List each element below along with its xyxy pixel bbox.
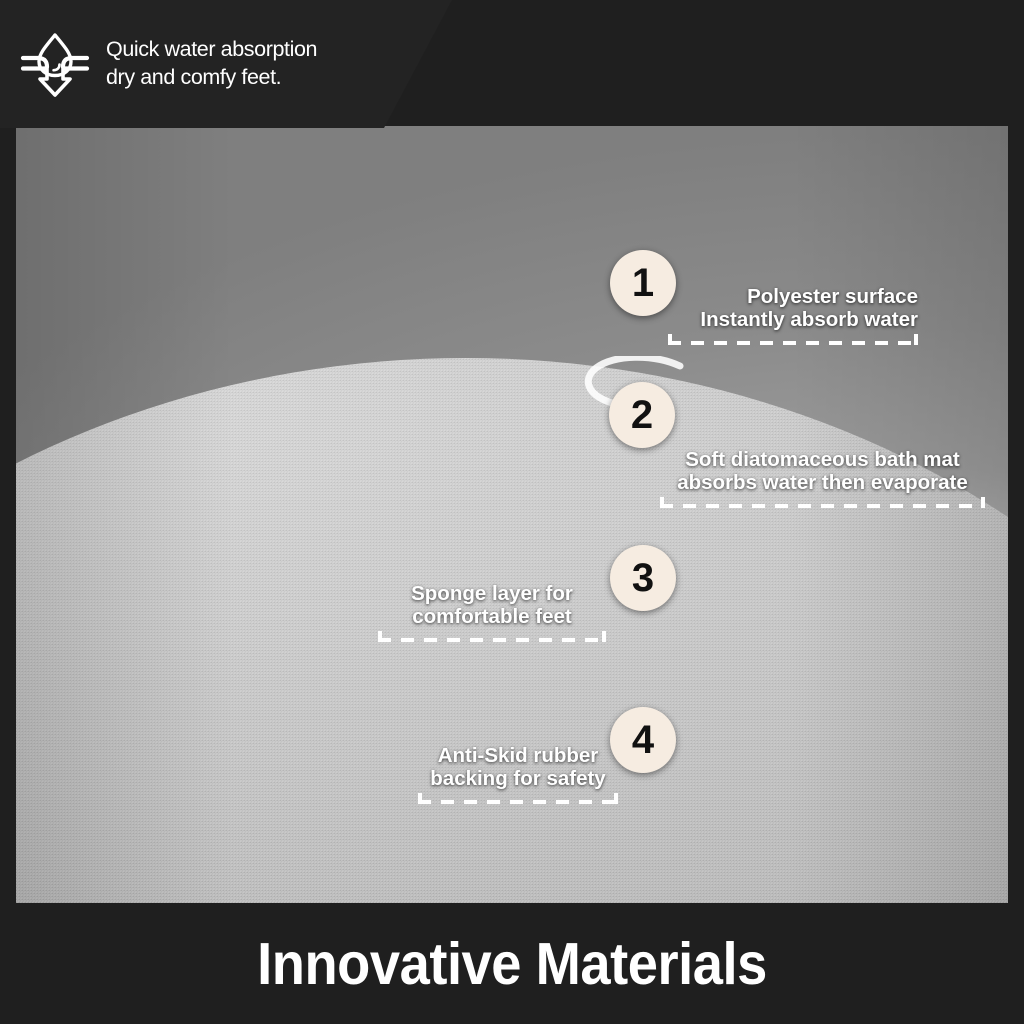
callout-badge-1-number: 1 xyxy=(632,263,654,303)
callout-4: Anti-Skid rubber backing for safety xyxy=(418,744,618,804)
footer-title: Innovative Materials xyxy=(257,930,767,998)
callout-badge-3-number: 3 xyxy=(632,558,654,598)
water-absorption-icon xyxy=(18,27,92,101)
callout-badge-2-number: 2 xyxy=(631,395,653,435)
header-tagline: Quick water absorption dry and comfy fee… xyxy=(106,36,317,92)
bracket-tick-right xyxy=(981,497,985,508)
header-content: Quick water absorption dry and comfy fee… xyxy=(0,0,452,128)
callout-3-line2: comfortable feet xyxy=(378,605,606,628)
callout-4-text: Anti-Skid rubber backing for safety xyxy=(418,744,618,790)
bracket-tick-right xyxy=(602,631,606,642)
dashed-rule xyxy=(660,504,985,508)
header-tagline-line1: Quick water absorption xyxy=(106,36,317,64)
callout-3-text: Sponge layer for comfortable feet xyxy=(378,582,606,628)
callout-3: Sponge layer for comfortable feet xyxy=(378,582,606,642)
callout-2-line2: absorbs water then evaporate xyxy=(660,471,985,494)
callout-3-line1: Sponge layer for xyxy=(378,582,606,605)
callout-badge-3[interactable]: 3 xyxy=(610,545,676,611)
callout-badge-2[interactable]: 2 xyxy=(609,382,675,448)
dashed-rule xyxy=(378,638,606,642)
infographic-canvas: Quick water absorption dry and comfy fee… xyxy=(0,0,1024,1024)
callout-badge-1[interactable]: 1 xyxy=(610,250,676,316)
callout-4-underline xyxy=(418,793,618,804)
callout-2-underline xyxy=(660,497,985,508)
callout-badge-4[interactable]: 4 xyxy=(610,707,676,773)
callout-4-line1: Anti-Skid rubber xyxy=(418,744,618,767)
callout-2: Soft diatomaceous bath mat absorbs water… xyxy=(660,448,985,508)
callout-1-underline xyxy=(668,334,918,345)
callout-1-line2: Instantly absorb water xyxy=(668,308,918,331)
header-tagline-line2: dry and comfy feet. xyxy=(106,64,317,92)
footer-bar: Innovative Materials xyxy=(0,903,1024,1024)
callout-1-line1: Polyester surface xyxy=(668,285,918,308)
dashed-rule xyxy=(668,341,918,345)
dashed-rule xyxy=(418,800,618,804)
callout-3-underline xyxy=(378,631,606,642)
callout-2-line1: Soft diatomaceous bath mat xyxy=(660,448,985,471)
callout-badge-4-number: 4 xyxy=(632,720,654,760)
callout-2-text: Soft diatomaceous bath mat absorbs water… xyxy=(660,448,985,494)
callout-1-text: Polyester surface Instantly absorb water xyxy=(668,285,918,331)
callout-4-line2: backing for safety xyxy=(418,767,618,790)
bracket-tick-right xyxy=(914,334,918,345)
bracket-tick-right xyxy=(614,793,618,804)
callout-1: Polyester surface Instantly absorb water xyxy=(668,285,918,345)
